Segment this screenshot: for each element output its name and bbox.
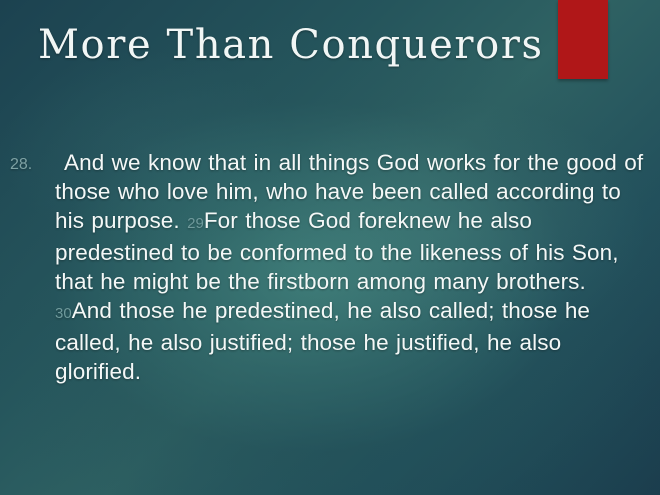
presentation-slide: More Than Conquerors 28. And we know tha…	[0, 0, 660, 495]
verse-content-block: 28. And we know that in all things God w…	[10, 148, 650, 386]
page-title: More Than Conquerors	[38, 22, 538, 68]
verse-paragraph: And we know that in all things God works…	[55, 148, 650, 386]
inline-verse-number: 29	[187, 215, 204, 232]
verse-text-run: And those he predestined, he also called…	[55, 298, 590, 384]
red-accent-bar	[558, 0, 608, 79]
verse-list-marker: 28.	[10, 148, 55, 179]
inline-verse-number: 30	[55, 305, 72, 322]
verse-segments: And we know that in all things God works…	[55, 150, 643, 384]
